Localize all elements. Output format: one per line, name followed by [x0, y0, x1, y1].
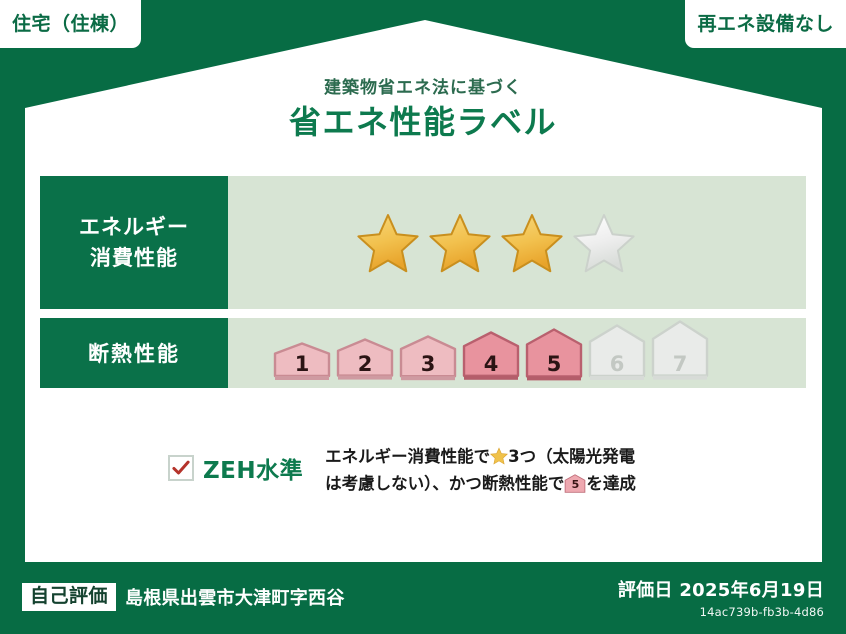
tab-building-type-label: 住宅（住棟）: [12, 15, 129, 34]
insulation-level-label: 6: [587, 352, 647, 376]
insulation-level-label: 7: [650, 352, 710, 376]
insulation-level-4: 4: [461, 324, 521, 382]
insulation-level-scale: 1234567: [272, 324, 713, 382]
zeh-description: エネルギー消費性能で3つ（太陽光発電は考慮しない）、かつ断熱性能で5を達成: [325, 444, 636, 497]
zeh-standard-note: ZEH水準 エネルギー消費性能で3つ（太陽光発電は考慮しない）、かつ断熱性能で5…: [40, 444, 806, 497]
footer-right: 評価日 2025年6月19日 14ac739b-fb3b-4d86: [618, 576, 824, 619]
star-icon-filled: [428, 212, 492, 274]
insulation-level-label: 3: [398, 352, 458, 376]
star-icon: [490, 447, 508, 465]
zeh-label: ZEH水準: [203, 451, 303, 485]
star-icon-empty: [572, 212, 636, 274]
tab-building-type: 住宅（住棟）: [0, 0, 141, 48]
property-address: 島根県出雲市大津町字西谷: [125, 584, 345, 610]
zeh-desc-part2: は考慮しない）、かつ断熱性能で: [325, 474, 564, 493]
energy-performance-label: エネルギー 消費性能: [40, 176, 228, 309]
evaluation-type-badge: 自己評価: [22, 583, 116, 612]
star-icon-filled: [500, 212, 564, 274]
star-icon-filled: [356, 212, 420, 274]
zeh-mark: ZEH水準: [168, 444, 303, 485]
check-icon: [171, 458, 191, 478]
insulation-label-text: 断熱性能: [88, 338, 180, 368]
insulation-level-2: 2: [335, 324, 395, 382]
evaluation-id: 14ac739b-fb3b-4d86: [618, 605, 824, 619]
star-rating: [228, 176, 806, 309]
tab-renewable-energy-label: 再エネ設備なし: [697, 15, 834, 34]
energy-label-line1: エネルギー: [79, 212, 189, 242]
tab-renewable-energy: 再エネ設備なし: [685, 0, 846, 48]
house-icon: 5: [564, 474, 586, 493]
insulation-scale-wrapper: 1234567: [228, 318, 806, 388]
zeh-checkbox[interactable]: [168, 455, 194, 481]
insulation-level-label: 1: [272, 352, 332, 376]
insulation-level-label: 2: [335, 352, 395, 376]
evaluation-date: 評価日 2025年6月19日: [618, 576, 824, 602]
title-subtitle: 建築物省エネ法に基づく: [0, 78, 846, 98]
insulation-level-1: 1: [272, 324, 332, 382]
insulation-level-label: 4: [461, 352, 521, 376]
insulation-level-7: 7: [650, 324, 710, 382]
footer: 自己評価 島根県出雲市大津町字西谷 評価日 2025年6月19日 14ac739…: [0, 566, 846, 634]
energy-performance-label: 住宅（住棟） 再エネ設備なし 建築物省エネ法に基づく 省エネ性能ラベル エネルギ…: [0, 0, 846, 634]
energy-label-line2: 消費性能: [90, 243, 178, 273]
insulation-performance-label: 断熱性能: [40, 318, 228, 388]
energy-performance-row: エネルギー 消費性能: [40, 176, 806, 309]
page-title: 省エネ性能ラベル: [0, 104, 846, 141]
zeh-desc-house-value: 5: [564, 476, 586, 494]
insulation-level-label: 5: [524, 352, 584, 376]
zeh-desc-star-count: 3つ（太陽光発電: [508, 447, 635, 466]
footer-left: 自己評価 島根県出雲市大津町字西谷: [22, 583, 345, 612]
insulation-level-5: 5: [524, 324, 584, 382]
zeh-desc-part1: エネルギー消費性能で: [325, 447, 490, 466]
zeh-desc-part3: を達成: [586, 474, 636, 493]
title-block: 建築物省エネ法に基づく 省エネ性能ラベル: [0, 78, 846, 141]
insulation-level-6: 6: [587, 324, 647, 382]
insulation-level-3: 3: [398, 324, 458, 382]
insulation-performance-row: 断熱性能 1234567: [40, 318, 806, 388]
